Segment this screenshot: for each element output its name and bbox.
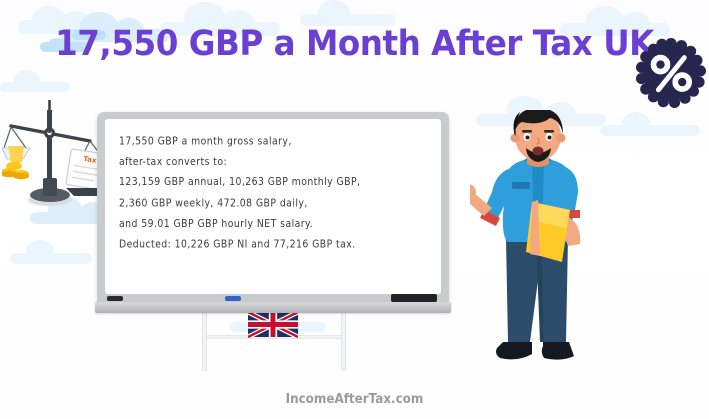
whiteboard-text: 17,550 GBP a month gross salary, after-t… [119, 132, 427, 255]
teacher-character [470, 110, 645, 372]
cloud-icon [10, 240, 92, 264]
whiteboard-frame: 17,550 GBP a month gross salary, after-t… [97, 112, 449, 308]
site-watermark: IncomeAfterTax.com [28, 392, 680, 407]
whiteboard: 17,550 GBP a month gross salary, after-t… [97, 112, 449, 308]
whiteboard-tray [95, 302, 451, 313]
board-line: Deducted: 10,226 GBP NI and 77,216 GBP t… [119, 235, 427, 256]
union-jack-flag-icon [248, 311, 298, 338]
board-line: 2,360 GBP weekly, 472.08 GBP daily, [119, 194, 427, 215]
stand-leg-left [202, 305, 207, 371]
infographic-canvas: 17,550 GBP a Month After Tax UK [0, 0, 709, 419]
board-eraser-icon [391, 294, 437, 302]
board-line: 123,159 GBP annual, 10,263 GBP monthly G… [119, 173, 427, 194]
whiteboard-surface: 17,550 GBP a month gross salary, after-t… [105, 119, 441, 294]
whiteboard-stand [198, 305, 350, 371]
percent-badge-icon [636, 38, 706, 108]
board-line: after-tax converts to: [119, 153, 427, 174]
page-title: 17,550 GBP a Month After Tax UK [25, 24, 684, 64]
black-marker-icon [107, 296, 123, 301]
cloud-icon [300, 0, 396, 26]
blue-marker-icon [225, 296, 241, 301]
balance-scales-icon: Tax [2, 96, 112, 208]
stand-leg-right [341, 305, 346, 371]
cloud-icon [0, 70, 70, 92]
board-line: and 59.01 GBP GBP hourly NET salary. [119, 214, 427, 235]
board-line: 17,550 GBP a month gross salary, [119, 132, 427, 153]
